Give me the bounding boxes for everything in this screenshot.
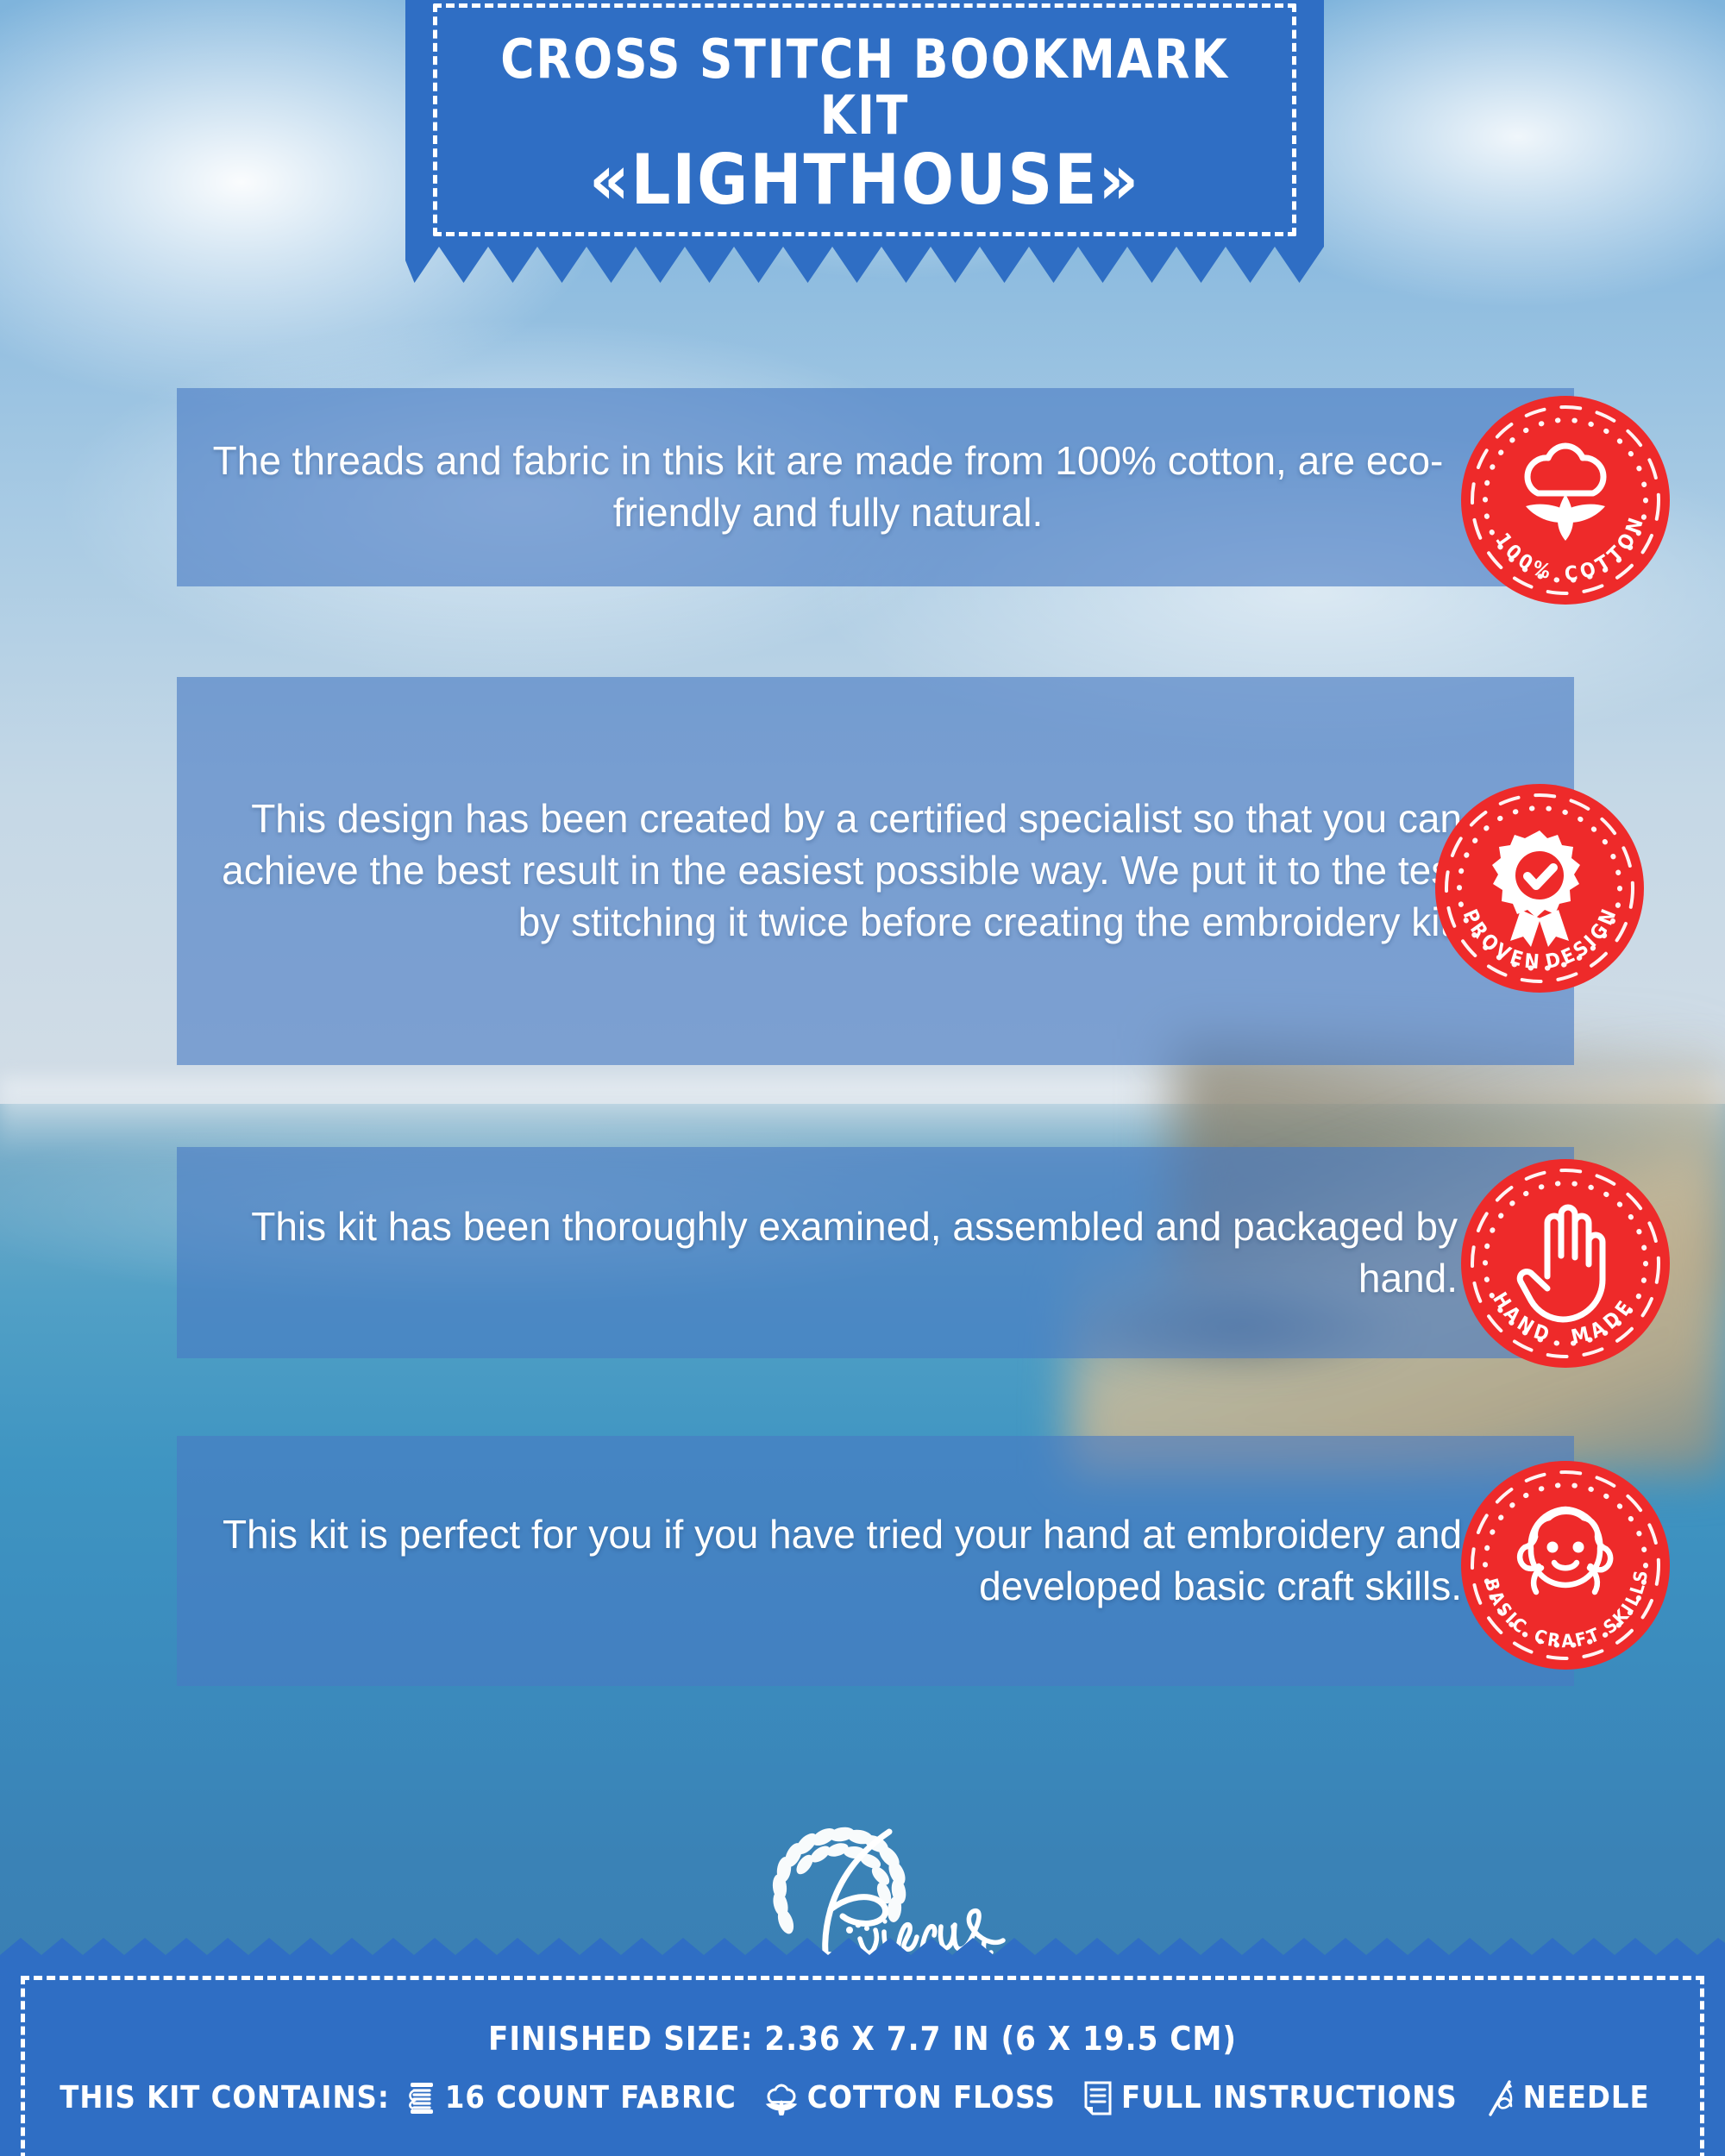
kit-contents-row: THIS KIT CONTAINS: 16 COUNT FABRIC [0,2079,1725,2117]
kit-contains-label: THIS KIT CONTAINS: [60,2083,390,2114]
header-zigzag-bottom-edge [405,245,1324,285]
finished-size-text: FINISHED SIZE: 2.36 X 7.7 IN (6 X 19.5 C… [0,2022,1725,2055]
badge-100-percent-cotton: 100% COTTON [1458,392,1673,608]
kit-content-item-needle: NEEDLE [1485,2079,1650,2117]
kit-content-item-instructions: FULL INSTRUCTIONS [1083,2081,1458,2115]
kit-content-label: COTTON FLOSS [807,2083,1056,2114]
footer-content: FINISHED SIZE: 2.36 X 7.7 IN (6 X 19.5 C… [0,2022,1725,2117]
title-line-2: «LIGHTHOUSE» [457,145,1272,216]
kit-content-label: NEEDLE [1523,2083,1650,2114]
header-banner-body: CROSS STITCH BOOKMARK KIT «LIGHTHOUSE» [405,0,1324,245]
badge-proven-design: PROVEN DESIGN [1432,780,1647,996]
feature-panel-hand-made: This kit has been thoroughly examined, a… [177,1147,1574,1358]
needle-thread-icon [1485,2079,1515,2117]
feature-panel-proven-design: This design has been created by a certif… [177,677,1574,1065]
poster-canvas: CROSS STITCH BOOKMARK KIT «LIGHTHOUSE» T… [0,0,1725,2156]
document-lines-icon [1083,2081,1113,2115]
feature-text: This kit is perfect for you if you have … [177,1509,1574,1613]
feature-panel-craft-skills: This kit is perfect for you if you have … [177,1436,1574,1686]
thread-spool-icon [407,2081,436,2115]
kit-content-item-fabric: 16 COUNT FABRIC [407,2081,737,2115]
feature-text: This kit has been thoroughly examined, a… [177,1201,1574,1305]
badge-hand-made: HAND MADE [1458,1156,1673,1371]
feature-text: The threads and fabric in this kit are m… [177,436,1574,539]
kit-content-label: 16 COUNT FABRIC [445,2083,737,2114]
page-title: CROSS STITCH BOOKMARK KIT «LIGHTHOUSE» [457,31,1272,216]
cotton-boll-icon [764,2081,799,2115]
title-line-1: CROSS STITCH BOOKMARK KIT [474,31,1256,143]
kit-content-label: FULL INSTRUCTIONS [1121,2083,1458,2114]
feature-panel-cotton: The threads and fabric in this kit are m… [177,388,1574,586]
kit-content-item-floss: COTTON FLOSS [764,2081,1056,2115]
feature-text: This design has been created by a certif… [177,793,1574,948]
badge-basic-craft-skills: BASIC CRAFT SKILLS [1458,1457,1673,1673]
footer-banner: FINISHED SIZE: 2.36 X 7.7 IN (6 X 19.5 C… [0,1936,1725,2156]
header-banner: CROSS STITCH BOOKMARK KIT «LIGHTHOUSE» [405,0,1324,285]
